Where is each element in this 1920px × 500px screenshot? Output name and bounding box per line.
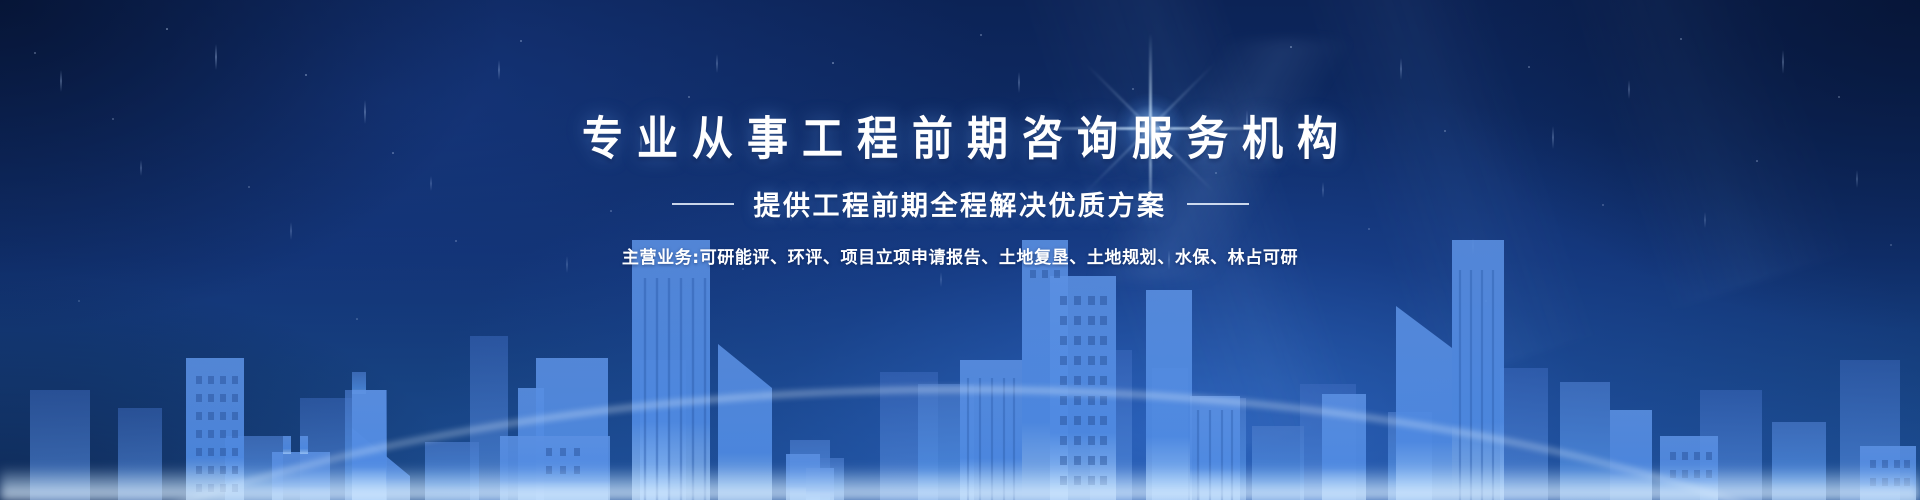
banner-headline: 专业从事工程前期咨询服务机构 bbox=[568, 112, 1352, 166]
banner-content: 专业从事工程前期咨询服务机构 提供工程前期全程解决优质方案 主营业务:可研能评、… bbox=[0, 0, 1920, 500]
dash-left-icon bbox=[672, 203, 734, 205]
banner-business-line: 主营业务:可研能评、环评、项目立项申请报告、土地复垦、土地规划、水保、林占可研 bbox=[622, 243, 1298, 268]
hero-banner: 专业从事工程前期咨询服务机构 提供工程前期全程解决优质方案 主营业务:可研能评、… bbox=[0, 0, 1920, 500]
banner-subtitle: 提供工程前期全程解决优质方案 bbox=[754, 184, 1167, 223]
dash-right-icon bbox=[1187, 203, 1249, 205]
banner-subtitle-row: 提供工程前期全程解决优质方案 bbox=[672, 184, 1249, 223]
